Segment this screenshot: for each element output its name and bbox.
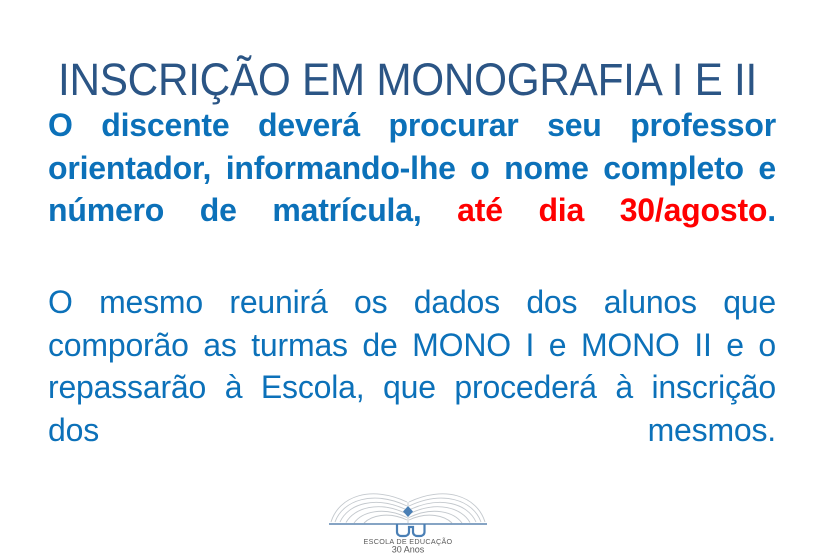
paragraph-deadline-text-blue-period: . [767, 192, 776, 228]
body-text-block: O discente deverá procurar seu professor… [48, 104, 776, 494]
diamond-icon [403, 506, 413, 517]
paragraph-process: O mesmo reunirá os dados dos alunos que … [48, 281, 776, 494]
ribbon-icon [397, 524, 425, 536]
page-title: INSCRIÇÃO EM MONOGRAFIA I E II [24, 52, 790, 108]
slide-canvas: INSCRIÇÃO EM MONOGRAFIA I E II O discent… [0, 0, 815, 559]
school-logo: ESCOLA DE EDUCAÇÃO 30 Anos [323, 476, 493, 554]
paragraph-deadline-text-red: até dia 30/agosto [457, 192, 767, 228]
logo-line-2: 30 Anos [392, 545, 425, 555]
paragraph-deadline: O discente deverá procurar seu professor… [48, 104, 776, 274]
